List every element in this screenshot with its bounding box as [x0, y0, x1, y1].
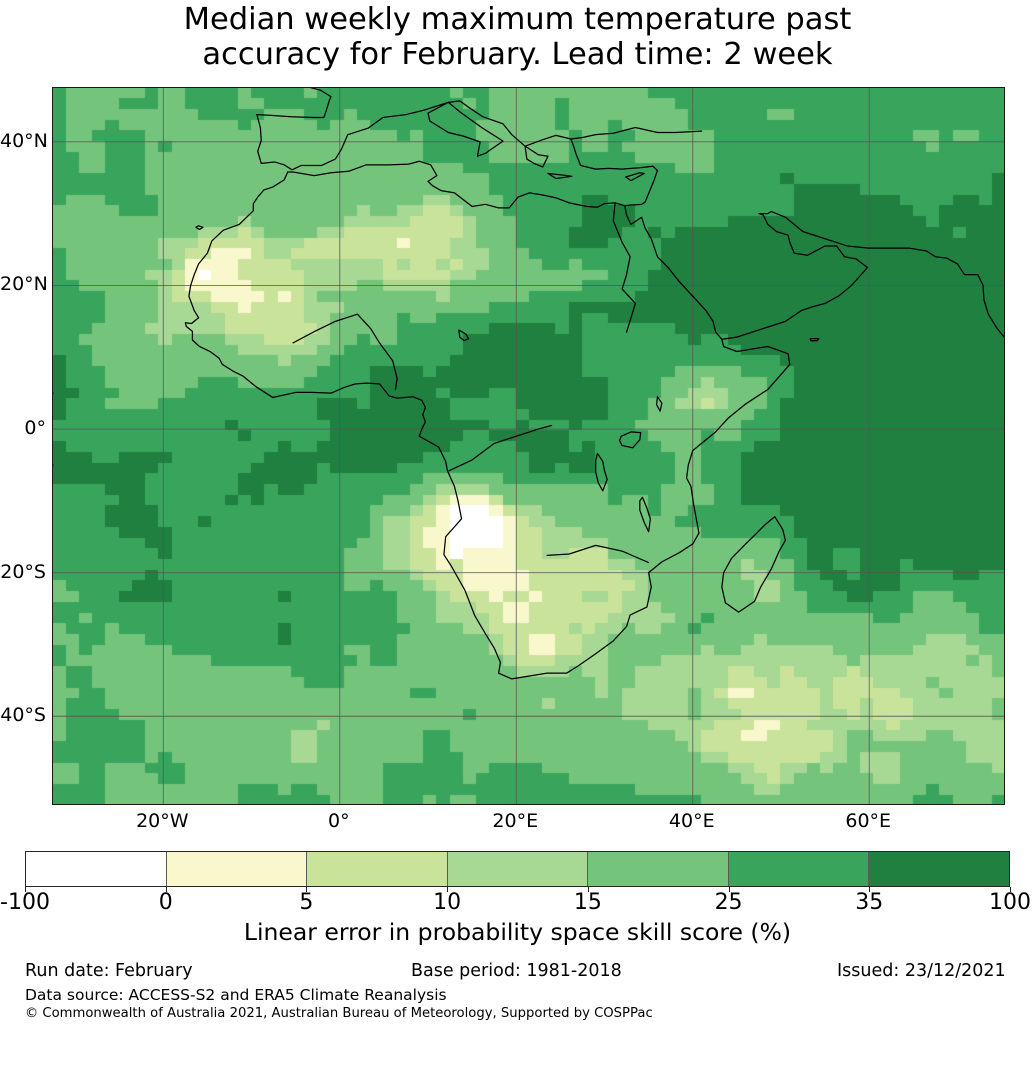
colorbar-tick-label: 100	[989, 890, 1031, 915]
x-tick-label: 20°E	[492, 810, 538, 832]
footer-issued-date: Issued: 23/12/2021	[837, 961, 1006, 981]
colorbar-band	[729, 852, 870, 886]
colorbar-band	[167, 852, 308, 886]
colorbar-band	[26, 852, 167, 886]
colorbar-tick-label: 10	[433, 890, 461, 915]
colorbar-band	[588, 852, 729, 886]
colorbar	[25, 851, 1010, 887]
x-tick-label: 0°	[328, 810, 350, 832]
colorbar-tick-label: -100	[0, 890, 50, 915]
footer-run-date: Run date: February	[25, 961, 193, 981]
colorbar-band	[448, 852, 589, 886]
y-tick-label: 0°	[0, 417, 46, 439]
y-tick-label: 40°N	[0, 130, 46, 152]
colorbar-band	[307, 852, 448, 886]
footer-copyright: © Commonwealth of Australia 2021, Austra…	[25, 1006, 653, 1021]
y-tick-label: 40°S	[0, 704, 46, 726]
title-line-2: accuracy for February. Lead time: 2 week	[0, 37, 1035, 72]
colorbar-tick-label: 15	[574, 890, 602, 915]
x-tick-label: 60°E	[845, 810, 891, 832]
footer-base-period: Base period: 1981-2018	[411, 961, 622, 981]
y-tick-label: 20°S	[0, 561, 46, 583]
colorbar-band	[869, 852, 1009, 886]
y-tick-label: 20°N	[0, 273, 46, 295]
footer-data-source: Data source: ACCESS-S2 and ERA5 Climate …	[25, 986, 447, 1004]
title-line-1: Median weekly maximum temperature past	[0, 2, 1035, 37]
map-plot-area	[52, 87, 1005, 805]
figure-root: Median weekly maximum temperature past a…	[0, 0, 1035, 1065]
colorbar-tick-label: 35	[855, 890, 883, 915]
colorbar-tick-label: 0	[159, 890, 173, 915]
colorbar-tick-label: 25	[715, 890, 743, 915]
colorbar-tick-label: 5	[299, 890, 313, 915]
x-tick-label: 40°E	[669, 810, 715, 832]
map-raster-layer	[53, 88, 1005, 805]
x-tick-label: 20°W	[136, 810, 188, 832]
colorbar-label: Linear error in probability space skill …	[0, 918, 1035, 946]
page-title: Median weekly maximum temperature past a…	[0, 2, 1035, 73]
